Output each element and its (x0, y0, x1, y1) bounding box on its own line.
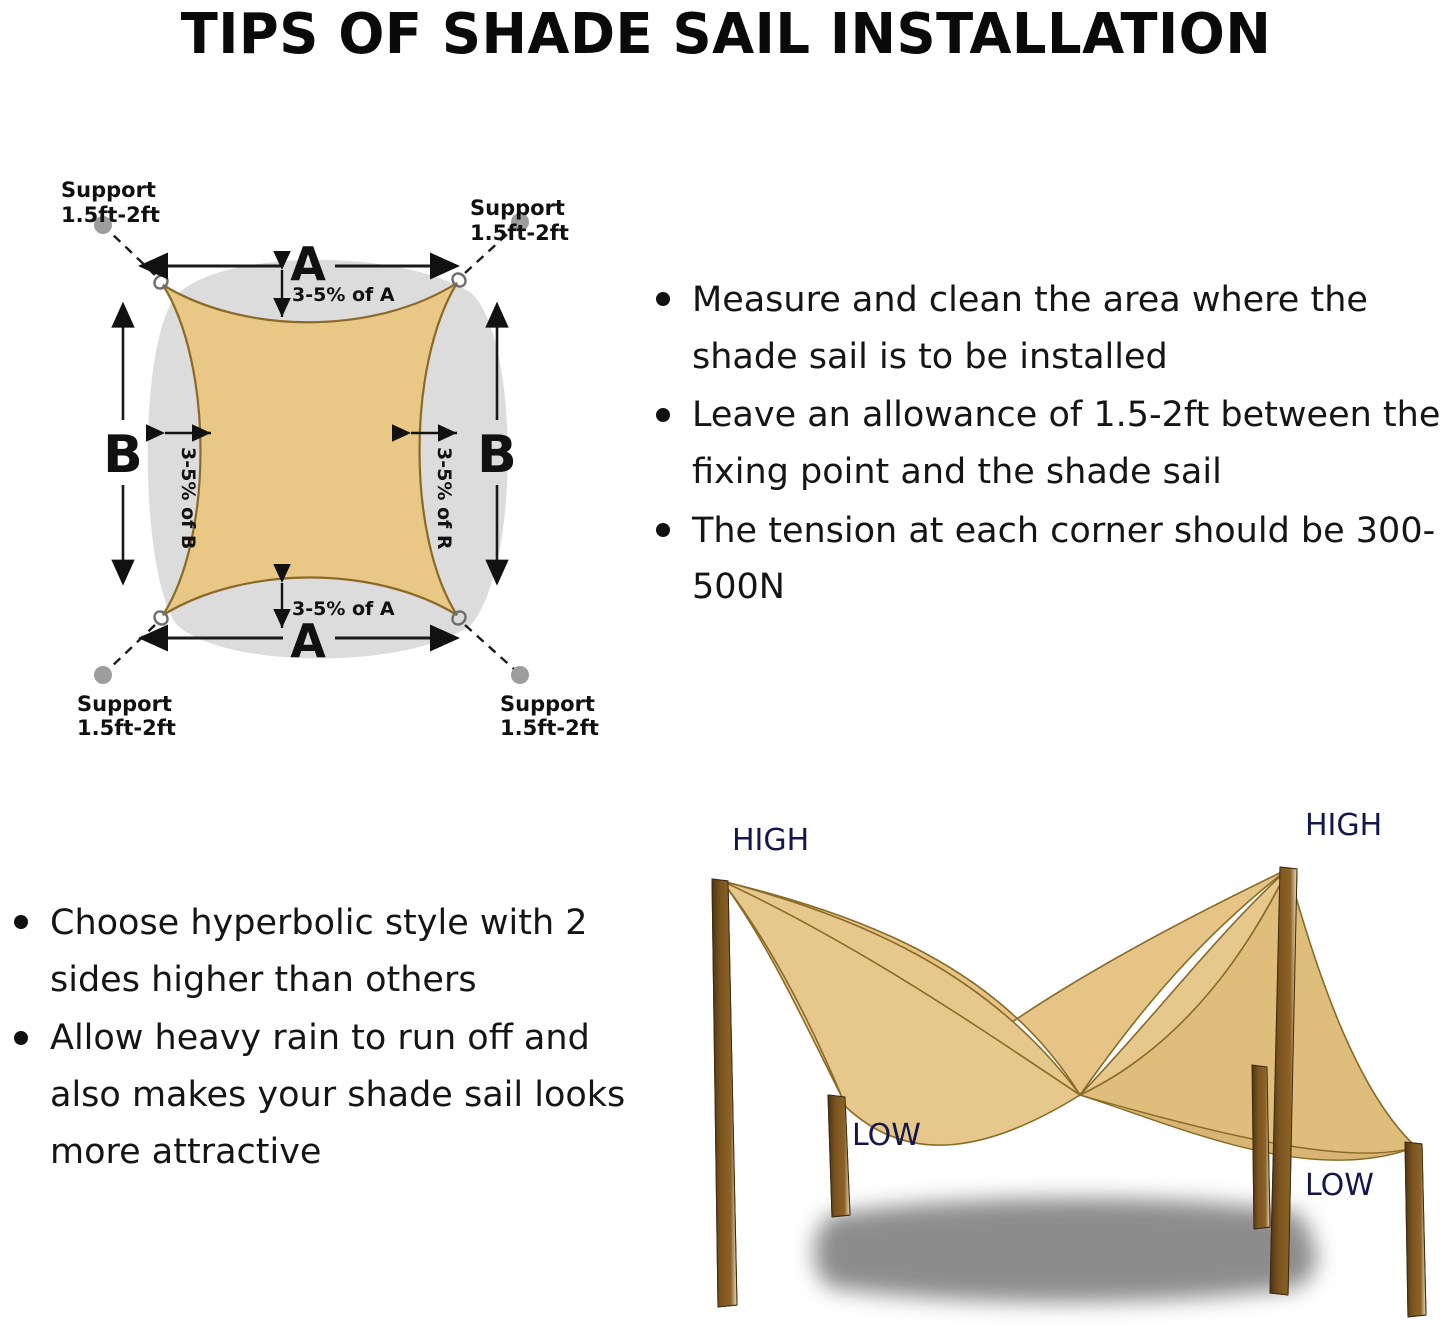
label-low-left: LOW (852, 1118, 921, 1153)
support-label-bl-line1: Support (77, 692, 172, 716)
pole-high-left-front (712, 879, 737, 1307)
curve-label-left: 3-5% of B (177, 447, 199, 549)
list-item: The tension at each corner should be 300… (648, 503, 1448, 616)
hyperbolic-sail-illustration: HIGH HIGH LOW LOW (660, 795, 1450, 1325)
support-label-br-line2: 1.5ft-2ft (500, 716, 599, 735)
ground-shadow (814, 1198, 1317, 1302)
support-label-tr-line2: 1.5ft-2ft (470, 221, 569, 245)
dimension-label-right-B: B (477, 425, 517, 485)
list-item: Leave an allowance of 1.5-2ft between th… (648, 387, 1448, 500)
installation-tips-right-list: Measure and clean the area where the sha… (648, 272, 1448, 618)
curve-label-bottom: 3-5% of A (292, 598, 395, 620)
tip-text: Measure and clean the area where the sha… (692, 280, 1368, 377)
curve-label-top: 3-5% of A (292, 284, 395, 306)
tip-text: Allow heavy rain to run off and also mak… (50, 1018, 625, 1171)
support-label-tl-line2: 1.5ft-2ft (61, 203, 160, 227)
square-shade-sail (163, 283, 457, 615)
list-item: Allow heavy rain to run off and also mak… (6, 1010, 626, 1180)
label-high-left: HIGH (732, 823, 809, 858)
pole-low-left-front (828, 1095, 850, 1217)
dimension-label-bottom-A: A (290, 614, 326, 668)
tip-text: Leave an allowance of 1.5-2ft between th… (692, 395, 1440, 492)
dimension-label-left-B: B (103, 425, 143, 485)
support-label-br-line1: Support (500, 692, 595, 716)
bullet-icon (656, 292, 670, 306)
label-low-right: LOW (1305, 1168, 1374, 1203)
support-label-tr-line1: Support (470, 196, 565, 220)
list-item: Choose hyperbolic style with 2 sides hig… (6, 895, 626, 1008)
label-high-right: HIGH (1305, 808, 1382, 843)
bullet-icon (656, 408, 670, 422)
square-sail-diagram: Support 1.5ft-2ft Support 1.5ft-2ft Supp… (45, 165, 645, 735)
bullet-icon (14, 1031, 28, 1045)
dimension-left-B: B (103, 325, 143, 583)
bullet-icon (14, 915, 28, 929)
list-item: Measure and clean the area where the sha… (648, 272, 1448, 385)
installation-tips-bottom-list: Choose hyperbolic style with 2 sides hig… (6, 895, 626, 1182)
pole-mid-right-front (1252, 1065, 1270, 1229)
bullet-icon (656, 523, 670, 537)
support-label-bl-line2: 1.5ft-2ft (77, 716, 176, 735)
pole-low-right-front (1405, 1142, 1426, 1317)
page-title: TIPS OF SHADE SAIL INSTALLATION (22, 2, 1430, 67)
tip-text: The tension at each corner should be 300… (692, 511, 1435, 608)
support-label-tl-line1: Support (61, 178, 156, 202)
tip-text: Choose hyperbolic style with 2 sides hig… (50, 903, 588, 1000)
dimension-label-top-A: A (290, 237, 326, 291)
curve-label-right: 3-5% of R (433, 447, 455, 550)
